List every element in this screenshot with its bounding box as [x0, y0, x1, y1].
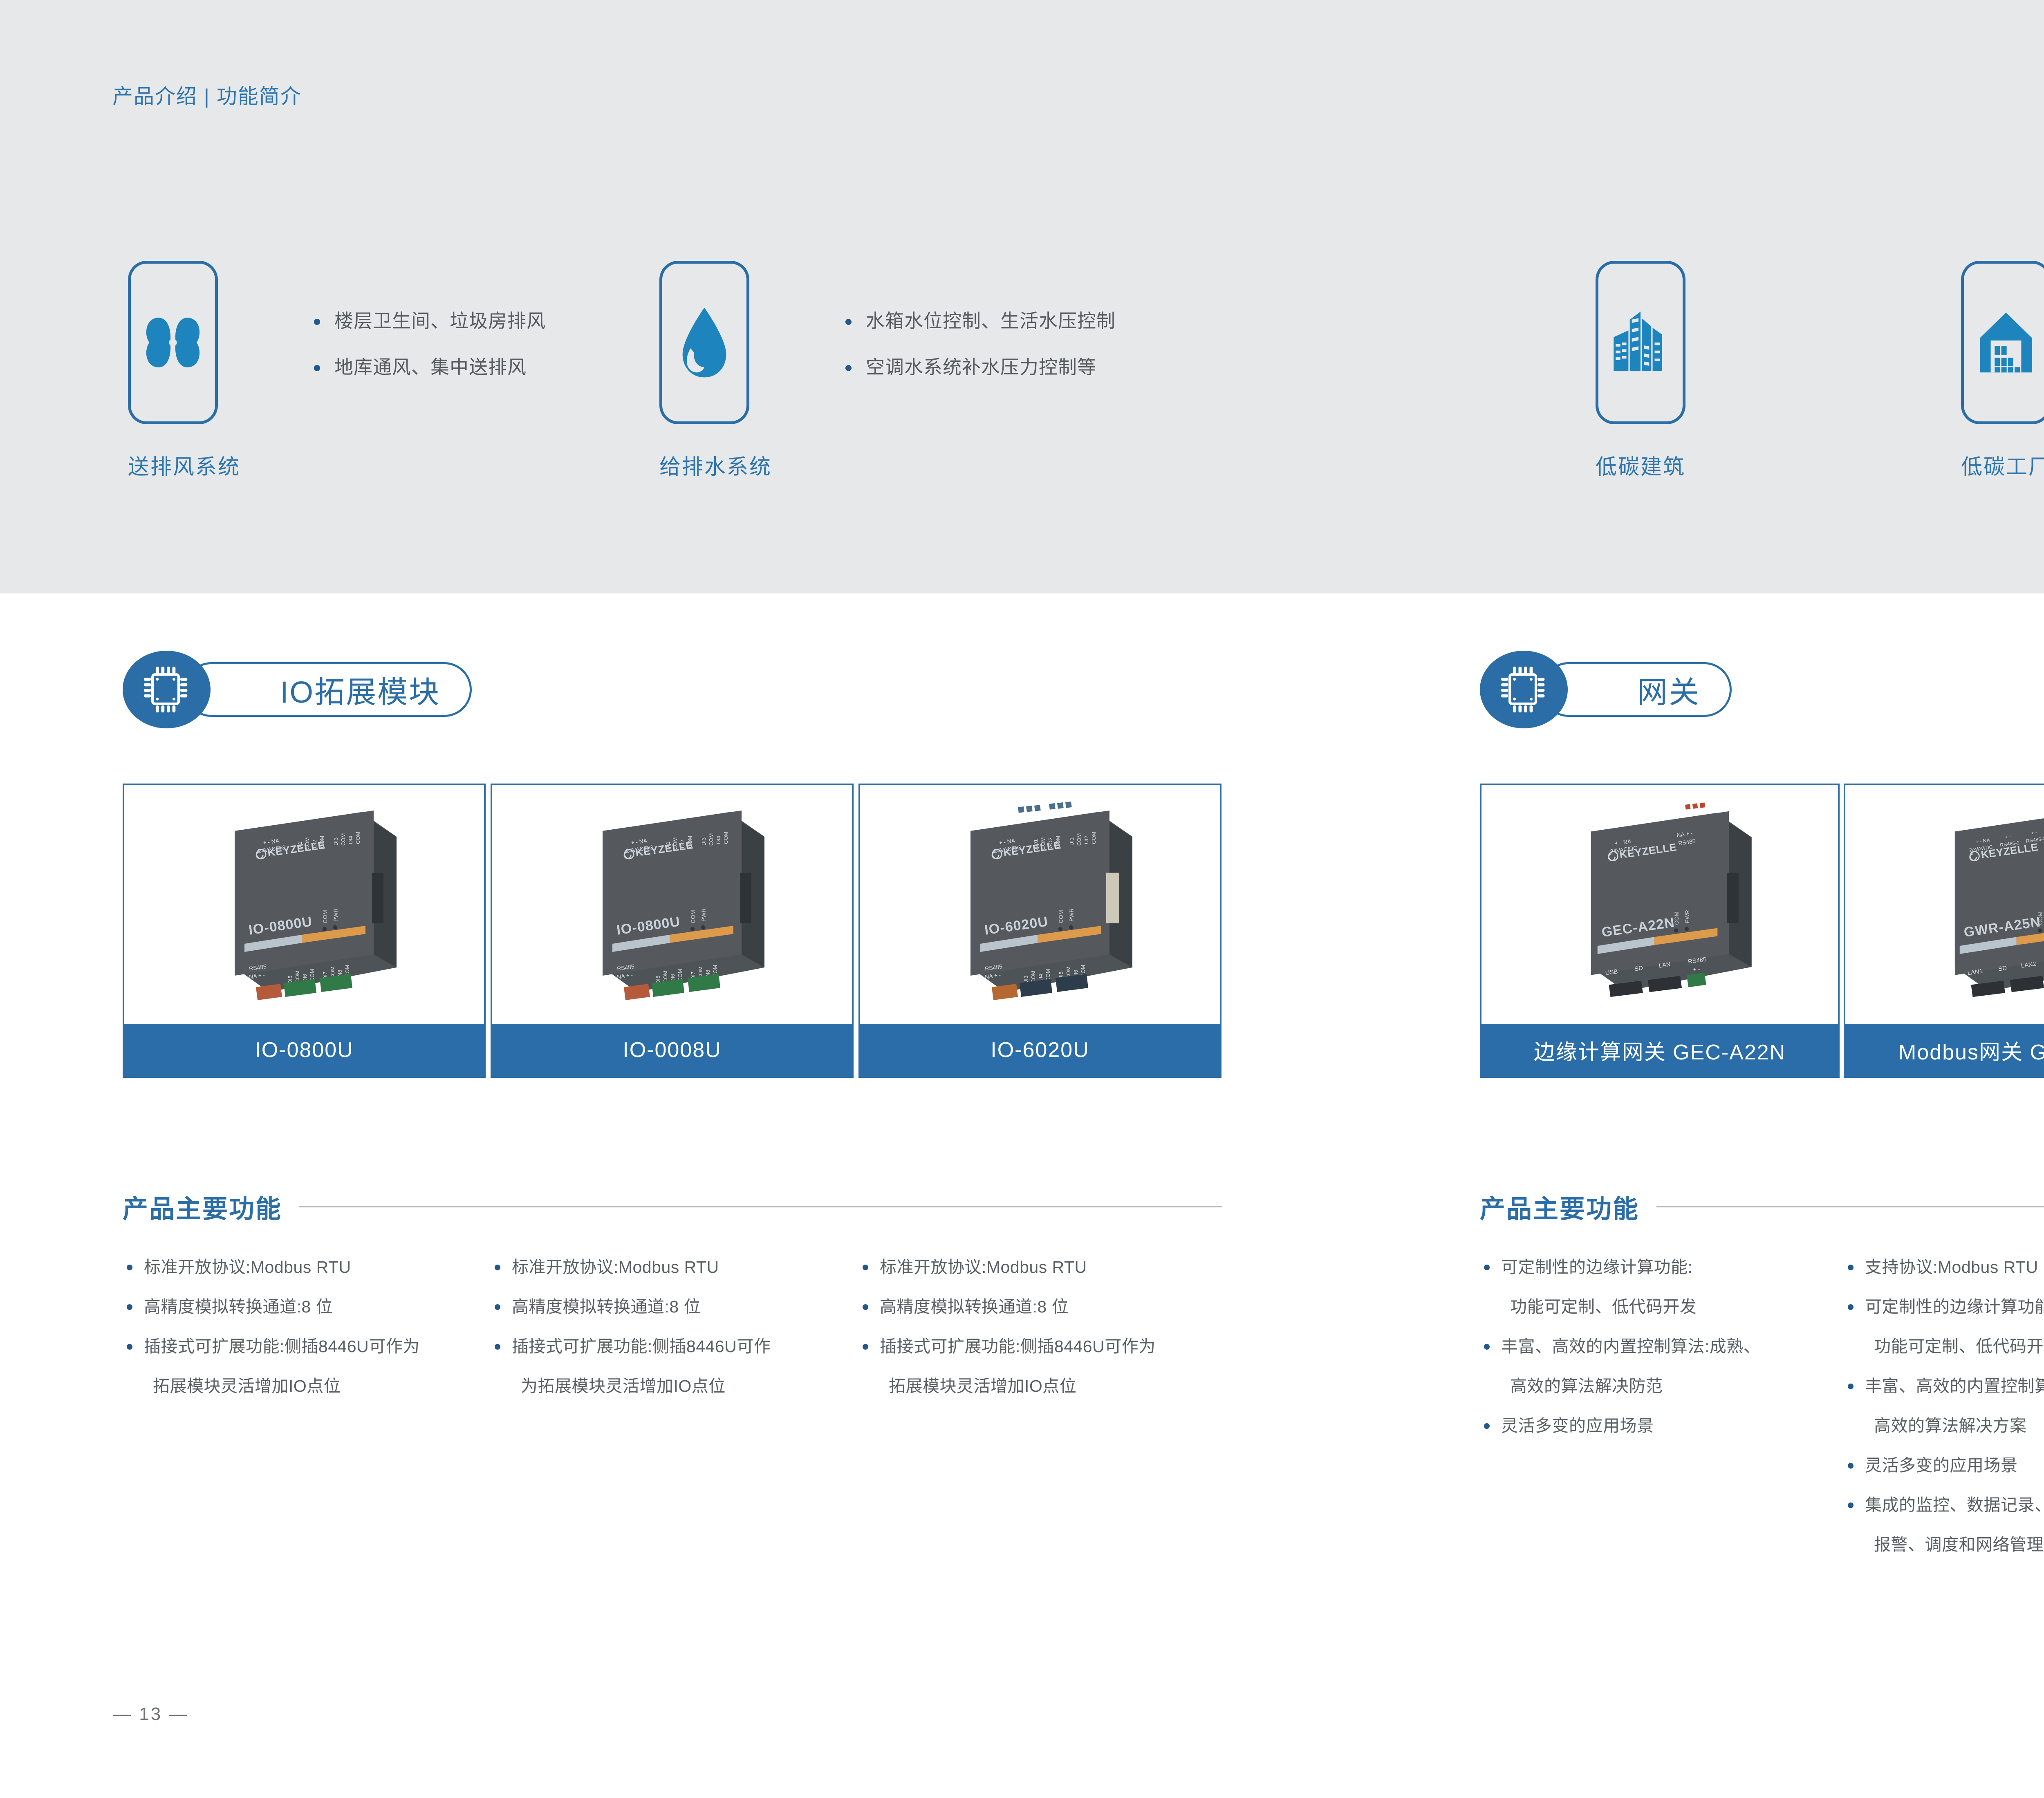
products-body: IO拓展模块 + - NA 24VAC/DC — [0, 593, 2044, 1798]
feature-item: 丰富、高效的内置控制算法:成熟、 — [1480, 1327, 1831, 1366]
water-bullets: 水箱水位控制、生活水压控制 空调水系统补水压力控制等 — [842, 311, 1116, 403]
feature-item: 插接式可扩展功能:侧插8446U可作为 — [123, 1327, 474, 1366]
feature-item: 高精度模拟转换通道:8 位 — [491, 1287, 842, 1327]
feature-item: 高精度模拟转换通道:8 位 — [123, 1287, 474, 1327]
fan-icon — [143, 310, 203, 375]
feature-item-cont: 拓展模块灵活增加IO点位 — [123, 1366, 474, 1406]
device-illustration: + - NA 2AVAV/DC + - RS485-2 + - RS485-3 … — [1898, 794, 2044, 1015]
svg-text:PWR: PWR — [1068, 908, 1075, 922]
application-water: 给排水系统 — [659, 261, 772, 480]
feature-item: 可定制性的边缘计算功能: — [1480, 1247, 1831, 1287]
feature-item: 插接式可扩展功能:侧插8446U可作为 — [858, 1327, 1210, 1366]
svg-text:COM: COM — [1091, 832, 1097, 844]
svg-text:COM: COM — [723, 832, 729, 844]
feature-item-cont: 报警、调度和网络管理 — [1844, 1525, 2044, 1565]
feature-item: 高精度模拟转换通道:8 位 — [858, 1287, 1210, 1327]
svg-text:PWR: PWR — [1683, 910, 1690, 923]
application-ventilation: 送排风系统 — [128, 261, 240, 480]
feature-column: 支持协议:Modbus RTU 可定制性的边缘计算功能: 功能可定制、低代码开发… — [1844, 1247, 2044, 1565]
svg-text:COM: COM — [1058, 910, 1064, 923]
feature-item-cont: 高效的算法解决防范 — [1480, 1366, 1831, 1406]
device-illustration: + - NA 24VAC/DC AO1 COM AO2 COM UI1 COM … — [913, 794, 1167, 1015]
running-header-left: 产品介绍 | 功能简介 — [112, 80, 302, 110]
application-caption: 给排水系统 — [659, 450, 772, 480]
product-card[interactable]: + - NA 24VAC/DC AO1 COM AO2 COM UI1 COM … — [858, 784, 1221, 1078]
feature-column: 标准开放协议:Modbus RTU 高精度模拟转换通道:8 位 插接式可扩展功能… — [123, 1247, 474, 1406]
svg-text:+ -: + - — [2004, 833, 2011, 840]
section-title-pill: 网关 — [1541, 662, 1732, 717]
application-caption: 送排风系统 — [128, 450, 240, 480]
application-caption: 低碳工厂 — [1961, 450, 2044, 480]
section-title: 网关 — [1637, 668, 1700, 712]
device-illustration: + - NA 24VAC/DC DI1 COM DI2 COM DI3 COM … — [545, 794, 799, 1015]
ventilation-bullets: 楼层卫生间、垃圾房排风 地库通风、集中送排风 — [311, 311, 546, 403]
chip-icon — [143, 665, 191, 714]
svg-text:COM: COM — [355, 832, 361, 844]
svg-text:+ -: + - — [2030, 829, 2037, 836]
device-illustration: + - NA 24VAC/DC DI1 COM DI2 COM DI3 COM … — [177, 794, 431, 1015]
office-building-icon-frame — [1596, 261, 1685, 424]
application-caption: 低碳建筑 — [1596, 450, 1685, 480]
features-heading-text: 产品主要功能 — [123, 1188, 282, 1225]
feature-item: 插接式可扩展功能:侧插8446U可作 — [491, 1327, 842, 1366]
applications-band: 产品介绍 | 功能简介 产品介绍 | 功能简介 送排风系统 楼层卫生间、垃圾房排… — [0, 0, 2044, 593]
water-drop-icon-frame — [659, 261, 749, 424]
svg-text:DI4: DI4 — [347, 836, 354, 844]
feature-item: 集成的监控、数据记录、能耗计量、 — [1844, 1485, 2044, 1525]
bullet-item: 水箱水位控制、生活水压控制 — [842, 311, 1116, 331]
bullet-item: 地库通风、集中送排风 — [311, 357, 546, 378]
product-image: + - NA 24VAC/DC DI1 COM DI2 COM DI3 COM … — [492, 785, 852, 1024]
product-card[interactable]: + - NA 2AVAV/DC + - RS485-2 + - RS485-3 … — [1844, 784, 2044, 1078]
svg-text:COM: COM — [708, 833, 714, 846]
chip-icon-badge — [1480, 651, 1568, 728]
svg-text:PWR: PWR — [700, 908, 707, 922]
svg-text:COM: COM — [322, 910, 328, 923]
heading-rule — [299, 1206, 1222, 1207]
svg-text:COM: COM — [1076, 833, 1082, 846]
section-header-io-modules: IO拓展模块 — [123, 651, 482, 728]
feature-item-cont: 功能可定制、低代码开发 — [1844, 1327, 2044, 1366]
feature-item: 可定制性的边缘计算功能: — [1844, 1287, 2044, 1327]
product-image: + - NA 24VAC/DC AO1 COM AO2 COM UI1 COM … — [860, 785, 1220, 1024]
svg-text:COM: COM — [340, 833, 346, 846]
svg-text:PWR: PWR — [332, 908, 339, 922]
device-illustration: + - NA 24VAC/DC NA + - RS485 KEYZELLE GE… — [1534, 794, 1786, 1015]
feature-item-cont: 功能可定制、低代码开发 — [1480, 1287, 1831, 1327]
office-building-icon — [1612, 309, 1669, 376]
features-heading-text: 产品主要功能 — [1480, 1188, 1639, 1225]
svg-text:UI2: UI2 — [1083, 836, 1089, 844]
product-caption: 边缘计算网关 GEC-A22N — [1481, 1024, 1838, 1076]
svg-text:DI4: DI4 — [715, 836, 722, 844]
water-drop-icon — [678, 306, 731, 379]
feature-item: 标准开放协议:Modbus RTU — [858, 1247, 1210, 1287]
feature-column: 标准开放协议:Modbus RTU 高精度模拟转换通道:8 位 插接式可扩展功能… — [491, 1247, 842, 1406]
svg-text:+ -: + - — [1692, 966, 1701, 973]
feature-item-cont: 拓展模块灵活增加IO点位 — [858, 1366, 1210, 1406]
svg-text:UI1: UI1 — [1069, 837, 1075, 846]
product-image: + - NA 2AVAV/DC + - RS485-2 + - RS485-3 … — [1845, 785, 2044, 1024]
product-image: + - NA 24VAC/DC NA + - RS485 KEYZELLE GE… — [1481, 785, 1838, 1024]
feature-item: 灵活多变的应用场景 — [1844, 1446, 2044, 1485]
feature-column: 标准开放协议:Modbus RTU 高精度模拟转换通道:8 位 插接式可扩展功能… — [858, 1247, 1210, 1406]
section-title-pill: IO拓展模块 — [184, 662, 472, 717]
feature-item-cont: 为拓展模块灵活增加IO点位 — [491, 1366, 842, 1406]
application-low-carbon-building: 低碳建筑 — [1596, 261, 1685, 480]
bullet-item: 楼层卫生间、垃圾房排风 — [311, 311, 546, 331]
page-number-left: — 13 — — [113, 1704, 188, 1724]
product-caption: IO-0008U — [492, 1024, 852, 1076]
product-card[interactable]: + - NA 24VAC/DC NA + - RS485 KEYZELLE GE… — [1480, 784, 1840, 1078]
feature-item: 支持协议:Modbus RTU — [1844, 1247, 2044, 1287]
feature-item: 灵活多变的应用场景 — [1480, 1406, 1831, 1446]
chip-icon-badge — [123, 651, 211, 728]
section-title: IO拓展模块 — [280, 668, 440, 712]
svg-text:COM: COM — [1673, 911, 1680, 925]
product-image: + - NA 24VAC/DC DI1 COM DI2 COM DI3 COM … — [124, 785, 484, 1024]
svg-text:COM: COM — [2037, 911, 2044, 925]
svg-text:SD: SD — [1998, 965, 2007, 973]
feature-item: 标准开放协议:Modbus RTU — [123, 1247, 474, 1287]
product-caption: Modbus网关 GWR-A25N — [1845, 1024, 2044, 1076]
brochure-page: 产品介绍 | 功能简介 产品介绍 | 功能简介 送排风系统 楼层卫生间、垃圾房排… — [0, 0, 2044, 1798]
svg-text:SD: SD — [1634, 965, 1643, 973]
section-header-gateways: 网关 — [1480, 651, 1774, 728]
svg-text:DI3: DI3 — [701, 837, 707, 846]
fan-icon-frame — [128, 261, 218, 424]
heading-rule — [1656, 1206, 2044, 1207]
feature-item: 丰富、高效的内置控制算法:成熟、 — [1844, 1366, 2044, 1406]
features-heading-gateways: 产品主要功能 — [1480, 1188, 2044, 1225]
feature-item-cont: 高效的算法解决方案 — [1844, 1406, 2044, 1446]
product-caption: IO-6020U — [860, 1024, 1220, 1076]
chip-icon — [1500, 665, 1548, 714]
factory-icon-frame — [1961, 261, 2044, 424]
product-card[interactable]: + - NA 24VAC/DC DI1 COM DI2 COM DI3 COM … — [491, 784, 854, 1078]
feature-item: 标准开放协议:Modbus RTU — [491, 1247, 842, 1287]
svg-text:COM: COM — [690, 910, 696, 923]
product-card[interactable]: + - NA 24VAC/DC DI1 COM DI2 COM DI3 COM … — [123, 784, 486, 1078]
application-low-carbon-factory: 低碳工厂 — [1961, 261, 2044, 480]
features-heading-io: 产品主要功能 — [123, 1188, 1222, 1225]
product-caption: IO-0800U — [124, 1024, 484, 1076]
bullet-item: 空调水系统补水压力控制等 — [842, 357, 1116, 378]
feature-column: 可定制性的边缘计算功能: 功能可定制、低代码开发 丰富、高效的内置控制算法:成熟… — [1480, 1247, 1831, 1446]
factory-icon — [1977, 310, 2035, 375]
svg-text:DI3: DI3 — [333, 837, 339, 846]
